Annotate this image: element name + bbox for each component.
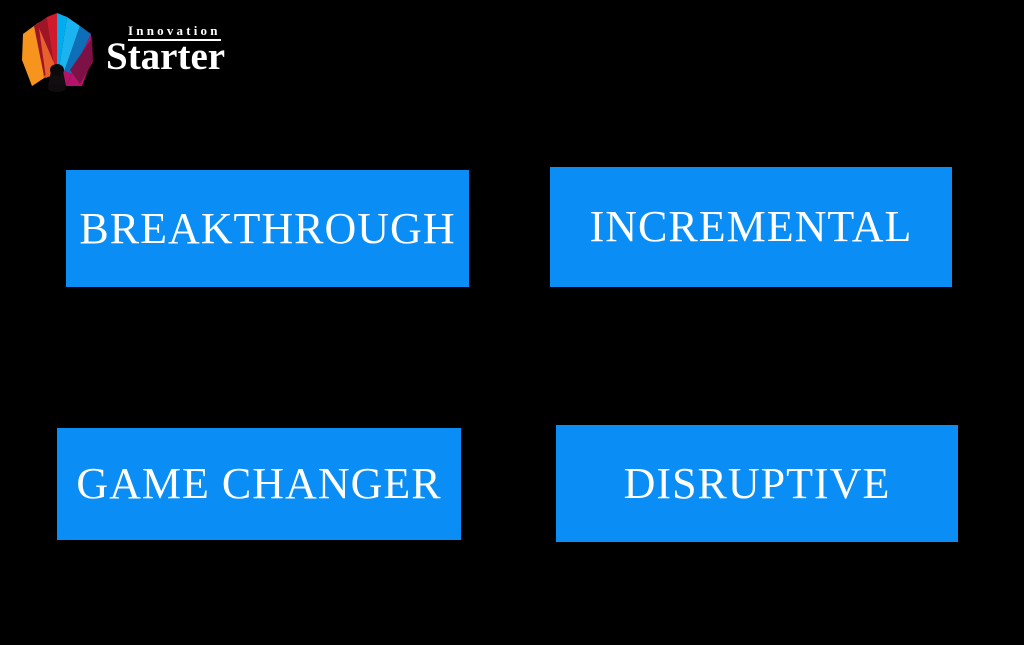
concept-box-game-changer[interactable]: GAME CHANGER (57, 428, 461, 540)
fan-crown-icon (14, 8, 100, 94)
concept-box-disruptive[interactable]: DISRUPTIVE (556, 425, 958, 542)
concept-box-incremental[interactable]: INCREMENTAL (550, 167, 952, 287)
logo-wordmark: Starter (106, 36, 225, 78)
concept-label-incremental: INCREMENTAL (590, 204, 913, 250)
logo-wordmark-group: Innovation Starter (92, 24, 240, 84)
concept-label-game-changer: GAME CHANGER (76, 461, 441, 507)
brand-logo: Innovation Starter (14, 6, 234, 92)
slide-canvas: Innovation Starter BREAKTHROUGH INCREMEN… (0, 0, 1024, 645)
concept-label-disruptive: DISRUPTIVE (624, 461, 891, 507)
concept-label-breakthrough: BREAKTHROUGH (79, 206, 455, 252)
concept-box-breakthrough[interactable]: BREAKTHROUGH (66, 170, 469, 287)
